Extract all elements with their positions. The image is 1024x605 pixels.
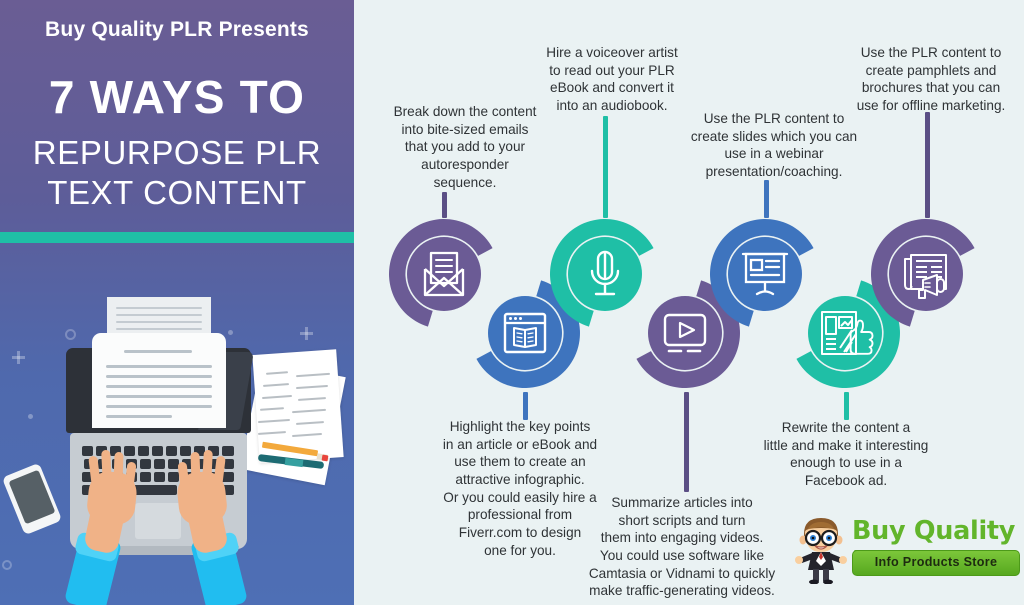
mascot-icon: [792, 514, 850, 584]
infographic-canvas: Buy Quality PLR Presents 7 WAYS TO REPUR…: [0, 0, 1024, 605]
laptop-illustration: [0, 250, 354, 605]
step-caption-5: Use the PLR content to create slides whi…: [674, 110, 874, 181]
divider-bar: [0, 232, 354, 243]
step-caption-6: Rewrite the content a little and make it…: [742, 419, 950, 490]
stem-4: [684, 392, 689, 492]
right-finger: [202, 450, 213, 484]
step-caption-3: Hire a voiceover artist to read out your…: [522, 44, 702, 115]
title-block: Buy Quality PLR Presents 7 WAYS TO REPUR…: [0, 0, 354, 228]
step-caption-7: Use the PLR content to create pamphlets …: [838, 44, 1024, 115]
left-finger: [113, 452, 123, 484]
step-node-7[interactable]: [867, 215, 985, 333]
logo-tagline-banner: Info Products Store: [852, 550, 1020, 576]
document-on-screen: [92, 333, 226, 428]
pencil-eraser: [322, 455, 329, 462]
stem-5: [764, 180, 769, 218]
step-caption-4: Summarize articles into short scripts an…: [569, 494, 795, 600]
page-subtitle: REPURPOSE PLR TEXT CONTENT: [0, 133, 354, 214]
brand-logo[interactable]: Buy Quality PLR Info Products Store: [790, 512, 1018, 590]
left-finger: [101, 450, 112, 484]
step-caption-1: Break down the content into bite-sized e…: [370, 103, 560, 191]
newspaper-megaphone-icon: [889, 237, 963, 311]
page-title: 7 WAYS TO: [0, 74, 354, 120]
kicker-text: Buy Quality PLR Presents: [0, 18, 354, 42]
stem-6: [844, 392, 849, 420]
stem-7: [925, 112, 930, 218]
title-panel: Buy Quality PLR Presents 7 WAYS TO REPUR…: [0, 0, 354, 605]
stem-3: [603, 116, 608, 218]
stem-2: [523, 392, 528, 420]
right-finger: [190, 452, 200, 484]
laptop-trackpad: [135, 503, 181, 539]
steps-panel: Break down the content into bite-sized e…: [354, 0, 1024, 605]
